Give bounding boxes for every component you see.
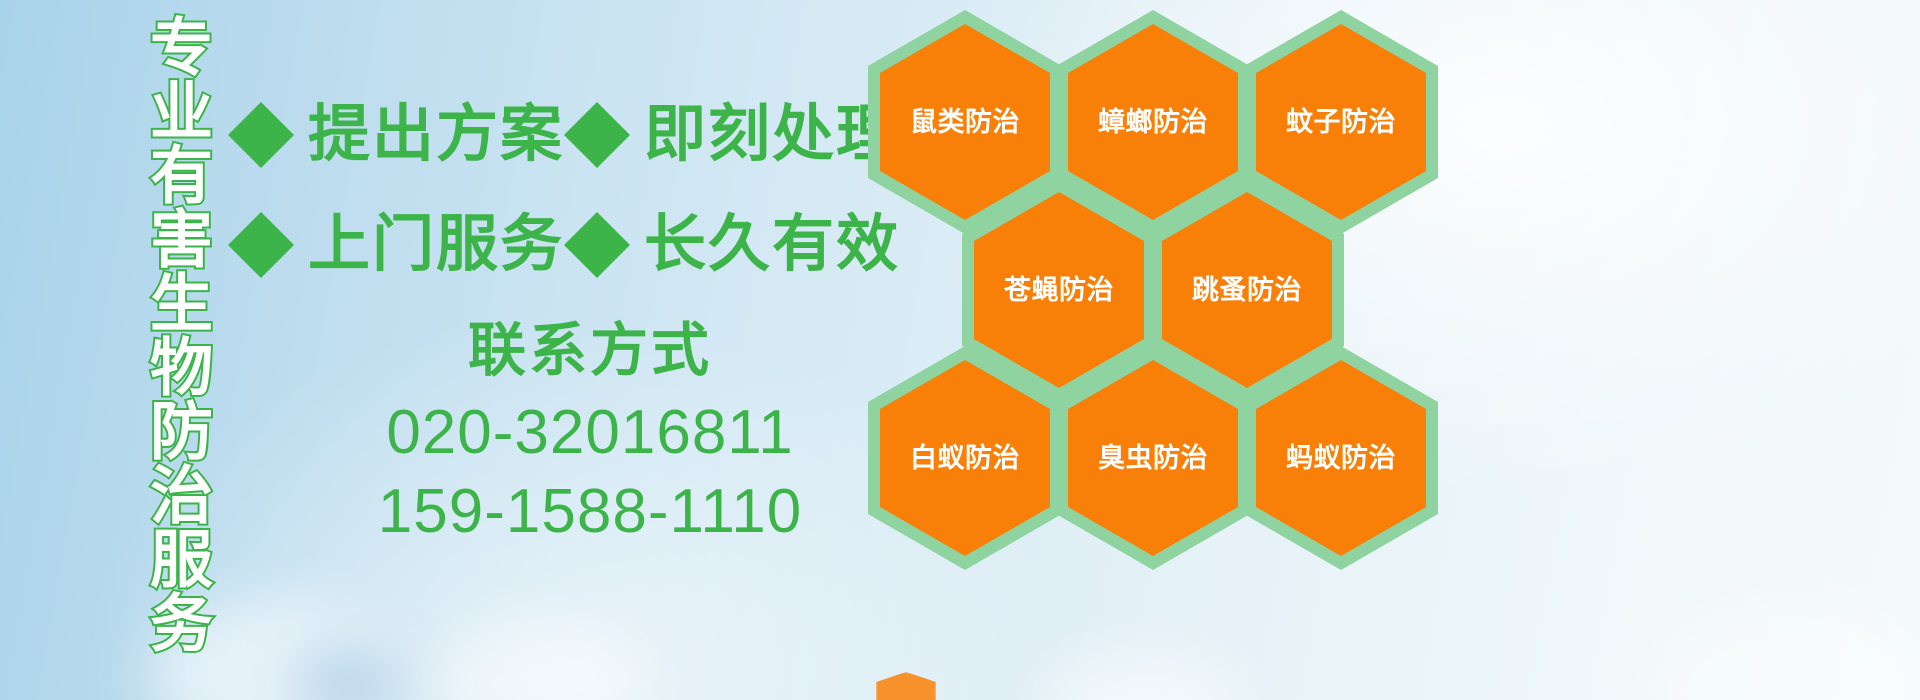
vertical-title: 专业有害生物防治服务 xyxy=(112,14,208,674)
background-blob xyxy=(290,640,410,700)
feature-item: 上门服务 xyxy=(228,212,564,278)
contact-heading: 联系方式 xyxy=(320,318,860,385)
background-blob xyxy=(1640,600,1920,700)
hex-inner: 蚂蚁防治 xyxy=(1256,360,1426,556)
hex-inner: 鼠类防治 xyxy=(880,24,1050,220)
service-label: 蚂蚁防治 xyxy=(1286,445,1396,472)
service-label: 蟑螂防治 xyxy=(1098,109,1208,136)
background-blob xyxy=(1040,650,1240,700)
service-label: 苍蝇防治 xyxy=(1004,277,1114,304)
decorative-hex-fragment xyxy=(876,672,936,700)
hex-inner: 跳蚤防治 xyxy=(1162,192,1332,388)
hex-inner: 蟑螂防治 xyxy=(1068,24,1238,220)
hex-inner: 蚊子防治 xyxy=(1256,24,1426,220)
feature-label: 提出方案 xyxy=(308,104,564,166)
feature-item: 长久有效 xyxy=(564,212,900,278)
feature-item: 即刻处理 xyxy=(564,102,900,168)
feature-row: 上门服务 长久有效 xyxy=(228,190,858,300)
hex-inner: 臭虫防治 xyxy=(1068,360,1238,556)
feature-label: 上门服务 xyxy=(308,214,564,276)
hex-inner: 白蚁防治 xyxy=(880,360,1050,556)
hex-inner: 苍蝇防治 xyxy=(974,192,1144,388)
service-label: 臭虫防治 xyxy=(1098,445,1208,472)
diamond-icon xyxy=(564,69,630,135)
background-blob xyxy=(430,620,650,700)
pest-control-banner: 专业有害生物防治服务 提出方案 即刻处理 上门服务 长久有效 xyxy=(0,0,1920,700)
diamond-icon xyxy=(228,69,294,135)
service-label: 鼠类防治 xyxy=(910,109,1020,136)
phone-number-landline[interactable]: 020-32016811 xyxy=(320,393,860,472)
service-label: 白蚁防治 xyxy=(910,445,1020,472)
phone-number-mobile[interactable]: 159-1588-1110 xyxy=(320,472,860,551)
service-label: 蚊子防治 xyxy=(1286,109,1396,136)
diamond-icon xyxy=(228,179,294,245)
service-honeycomb: 鼠类防治 蟑螂防治 蚊子防治 苍蝇防治 跳蚤防治 白蚁防治 xyxy=(862,0,1462,560)
feature-item: 提出方案 xyxy=(228,102,564,168)
service-label: 跳蚤防治 xyxy=(1192,277,1302,304)
feature-list: 提出方案 即刻处理 上门服务 长久有效 xyxy=(228,80,858,300)
diamond-icon xyxy=(564,179,630,245)
feature-row: 提出方案 即刻处理 xyxy=(228,80,858,190)
contact-block: 联系方式 020-32016811 159-1588-1110 xyxy=(320,318,860,551)
